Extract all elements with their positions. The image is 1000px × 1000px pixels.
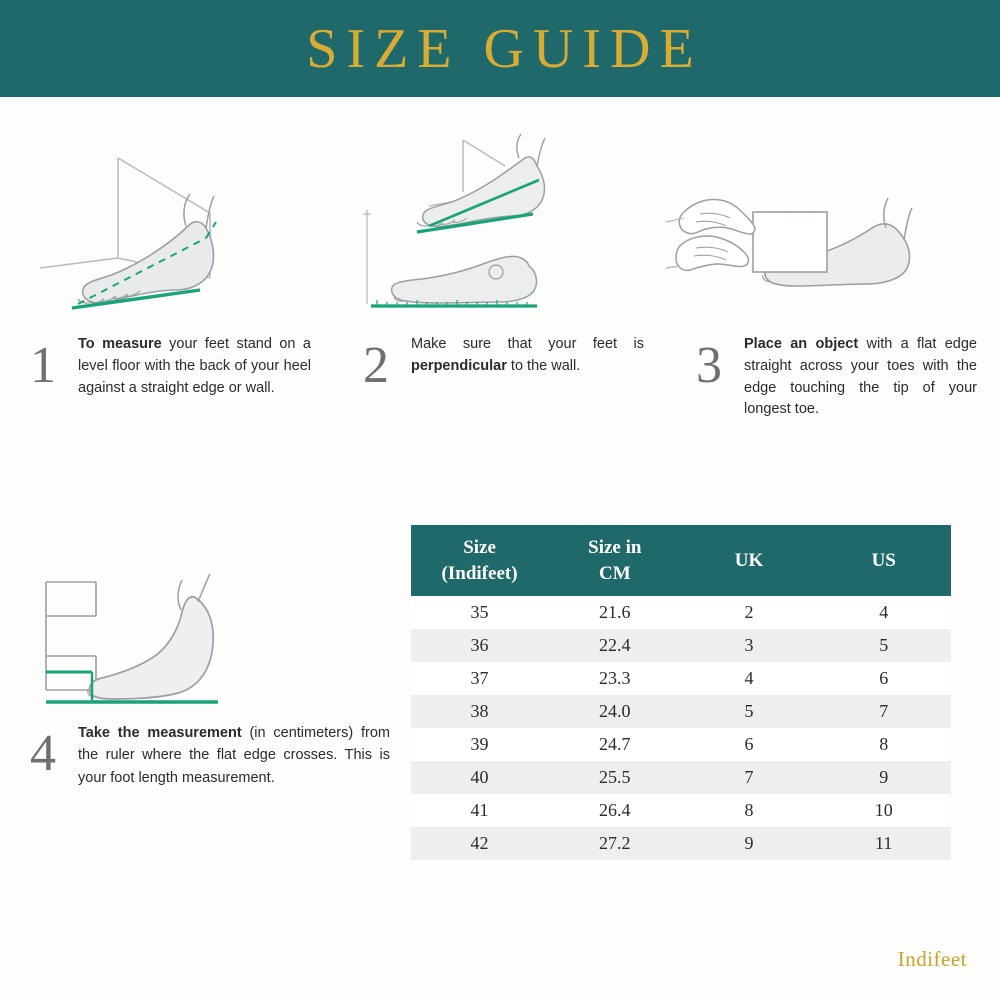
table-cell: 10: [816, 794, 951, 827]
step-4-number: 4: [30, 728, 78, 780]
step-4-text: Take the measurement (in centimeters) fr…: [78, 718, 390, 789]
table-cell: 6: [682, 728, 817, 761]
table-cell: 5: [816, 629, 951, 662]
table-cell: 11: [816, 827, 951, 860]
steps-row: 1 To measure your feet stand on a level …: [0, 118, 1000, 421]
size-guide-page: SIZE GUIDE: [0, 0, 1000, 1000]
size-chart-table: Size (Indifeet) Size in CM UK US 3521.62…: [411, 525, 951, 860]
header-uk: UK: [682, 525, 817, 596]
table-cell: 9: [682, 827, 817, 860]
table-cell: 2: [682, 596, 817, 629]
size-chart-body: 3521.6243622.4353723.3463824.0573924.768…: [411, 596, 951, 860]
step-3: 3 Place an object with a flat edge strai…: [666, 118, 999, 421]
table-cell: 7: [816, 695, 951, 728]
step-1-text: To measure your feet stand on a level fl…: [78, 330, 311, 399]
page-title: SIZE GUIDE: [297, 21, 702, 77]
table-cell: 5: [682, 695, 817, 728]
table-row: 3622.435: [411, 629, 951, 662]
step-2-number: 2: [363, 340, 411, 392]
table-cell: 27.2: [548, 827, 681, 860]
header-size-line1: Size: [415, 535, 544, 561]
table-cell: 24.0: [548, 695, 681, 728]
table-cell: 42: [411, 827, 548, 860]
table-cell: 26.4: [548, 794, 681, 827]
table-row: 4025.579: [411, 761, 951, 794]
step-4-text-wrap: 4 Take the measurement (in centimeters) …: [30, 718, 390, 789]
table-header-row: Size (Indifeet) Size in CM UK US: [411, 525, 951, 596]
header-size-line2: (Indifeet): [415, 561, 544, 587]
table-cell: 22.4: [548, 629, 681, 662]
foot-perpendicular-illustration: [333, 118, 666, 330]
table-row: 3924.768: [411, 728, 951, 761]
table-cell: 23.3: [548, 662, 681, 695]
table-row: 3521.624: [411, 596, 951, 629]
step-3-number: 3: [696, 340, 744, 392]
step-3-text-wrap: 3 Place an object with a flat edge strai…: [666, 330, 999, 421]
table-cell: 24.7: [548, 728, 681, 761]
table-cell: 40: [411, 761, 548, 794]
step-1: 1 To measure your feet stand on a level …: [0, 118, 333, 421]
table-cell: 6: [816, 662, 951, 695]
brand-logo: Indifeet: [898, 947, 967, 972]
table-cell: 4: [682, 662, 817, 695]
header-size-cm: Size in CM: [548, 525, 681, 596]
table-cell: 38: [411, 695, 548, 728]
step-2-text-wrap: 2 Make sure that your feet is perpendicu…: [333, 330, 666, 392]
table-cell: 35: [411, 596, 548, 629]
table-cell: 36: [411, 629, 548, 662]
header-cm-line1: Size in: [552, 535, 677, 561]
foot-against-wall-illustration: [0, 118, 333, 330]
table-cell: 7: [682, 761, 817, 794]
table-cell: 8: [682, 794, 817, 827]
step-1-text-wrap: 1 To measure your feet stand on a level …: [0, 330, 333, 399]
header-cm-line2: CM: [552, 561, 677, 587]
table-cell: 41: [411, 794, 548, 827]
table-cell: 37: [411, 662, 548, 695]
table-cell: 9: [816, 761, 951, 794]
table-row: 4227.2911: [411, 827, 951, 860]
step-1-number: 1: [30, 340, 78, 392]
table-cell: 39: [411, 728, 548, 761]
page-header: SIZE GUIDE: [0, 0, 1000, 97]
header-size-indifeet: Size (Indifeet): [411, 525, 548, 596]
table-cell: 4: [816, 596, 951, 629]
table-cell: 21.6: [548, 596, 681, 629]
hands-placing-object-illustration: [666, 118, 999, 330]
step-2-text: Make sure that your feet is perpendicula…: [411, 330, 644, 378]
step-3-text: Place an object with a flat edge straigh…: [744, 330, 977, 421]
step-2: 2 Make sure that your feet is perpendicu…: [333, 118, 666, 421]
table-row: 3723.346: [411, 662, 951, 695]
table-cell: 8: [816, 728, 951, 761]
table-cell: 25.5: [548, 761, 681, 794]
table-row: 4126.4810: [411, 794, 951, 827]
table-cell: 3: [682, 629, 817, 662]
size-chart-header: Size (Indifeet) Size in CM UK US: [411, 525, 951, 596]
header-us: US: [816, 525, 951, 596]
table-row: 3824.057: [411, 695, 951, 728]
